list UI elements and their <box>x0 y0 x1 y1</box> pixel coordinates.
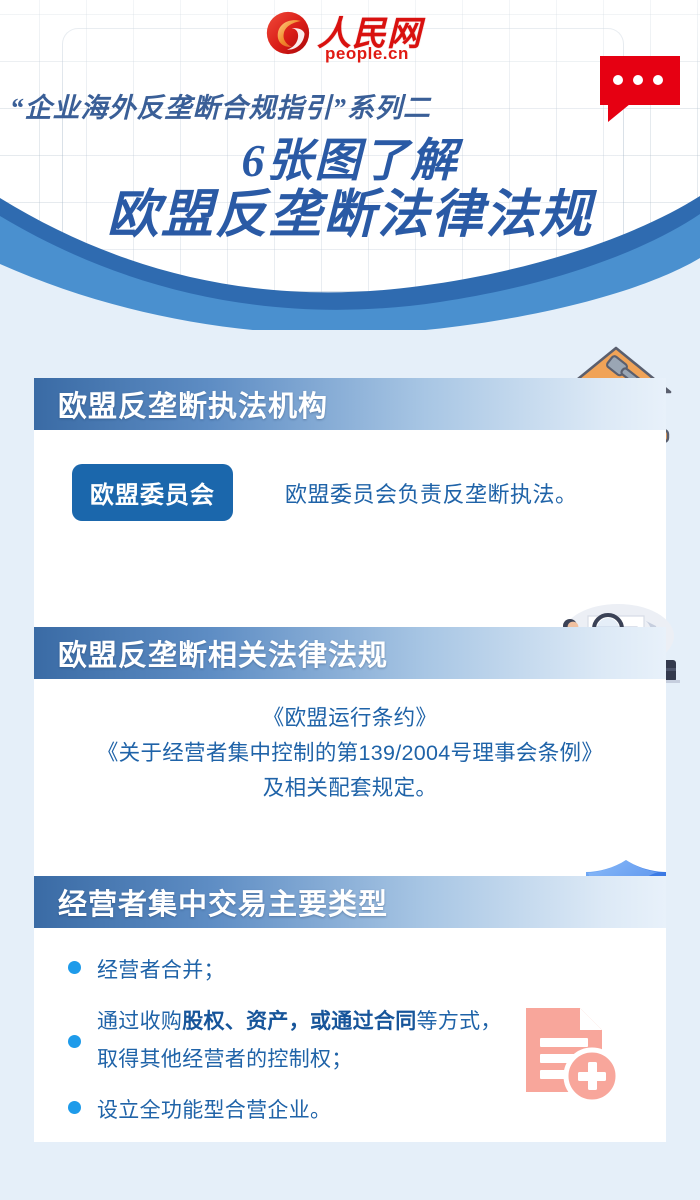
hero-banner: 人民网 people.cn “企业海外反垄断合规指引”系列二 6张图了解 欧盟反… <box>0 0 700 340</box>
bullet-text-1: 经营者合并； <box>97 952 225 989</box>
infographic-page: 人民网 people.cn “企业海外反垄断合规指引”系列二 6张图了解 欧盟反… <box>0 0 700 1200</box>
bullet-list: 经营者合并； 通过收购股权、资产，或通过合同等方式，取得其他经营者的控制权； 设… <box>34 928 666 1130</box>
section2-body: 《欧盟运行条约》 《关于经营者集中控制的第139/2004号理事会条例》 及相关… <box>34 679 666 859</box>
section1-row: 欧盟委员会 欧盟委员会负责反垄断执法。 <box>34 430 666 521</box>
speech-bubble-icon[interactable] <box>600 56 680 105</box>
section1-heading: 欧盟反垄断执法机构 <box>58 383 328 425</box>
bubble-tail <box>608 104 630 122</box>
section1-wrapper: 欧盟反垄断执法机构 欧盟委员会 欧盟委员会负责反垄断执法。 <box>34 378 666 580</box>
section3-header: 经营者集中交易主要类型 <box>34 876 666 928</box>
wave-decoration <box>0 190 700 340</box>
bullet-text-3: 设立全功能型合营企业。 <box>97 1092 331 1129</box>
section1-description: 欧盟委员会负责反垄断执法。 <box>285 477 578 509</box>
section3-heading: 经营者集中交易主要类型 <box>58 881 388 923</box>
bullet-text-2: 通过收购股权、资产，或通过合同等方式，取得其他经营者的控制权； <box>97 1003 502 1078</box>
list-item: 通过收购股权、资产，或通过合同等方式，取得其他经营者的控制权； <box>68 1003 666 1078</box>
bubble-dots <box>613 75 663 85</box>
people-cn-swirl-icon <box>265 10 311 56</box>
law-line-2: 《关于经营者集中控制的第139/2004号理事会条例》 <box>34 736 666 771</box>
list-item: 经营者合并； <box>68 952 666 989</box>
series-kicker: “企业海外反垄断合规指引”系列二 <box>10 86 431 125</box>
bullet-dot-icon <box>68 961 81 974</box>
section1-body: 欧盟委员会 欧盟委员会负责反垄断执法。 <box>34 430 666 580</box>
bullet-dot-icon <box>68 1101 81 1114</box>
section2-wrapper: 欧盟反垄断相关法律法规 《欧盟运行条约》 《关于经营者集中控制的第139/200… <box>34 627 666 859</box>
section3-body: 经营者合并； 通过收购股权、资产，或通过合同等方式，取得其他经营者的控制权； 设… <box>34 928 666 1140</box>
law-line-3: 及相关配套规定。 <box>34 771 666 806</box>
section2-heading: 欧盟反垄断相关法律法规 <box>58 632 388 674</box>
section2-header: 欧盟反垄断相关法律法规 <box>34 627 666 679</box>
eu-commission-badge[interactable]: 欧盟委员会 <box>72 464 233 521</box>
section1-header: 欧盟反垄断执法机构 <box>34 378 666 430</box>
title-line-1: 6张图了解 <box>0 138 700 185</box>
bullet-dot-icon <box>68 1035 81 1048</box>
logo-domain-text: people.cn <box>325 44 409 64</box>
section3-wrapper: 经营者集中交易主要类型 经营者合并； 通过收购股权、资产，或通过合同等方式，取得… <box>34 876 666 1140</box>
law-line-1: 《欧盟运行条约》 <box>34 701 666 736</box>
list-item: 设立全功能型合营企业。 <box>68 1092 666 1129</box>
people-cn-logo[interactable]: 人民网 people.cn <box>265 8 435 66</box>
